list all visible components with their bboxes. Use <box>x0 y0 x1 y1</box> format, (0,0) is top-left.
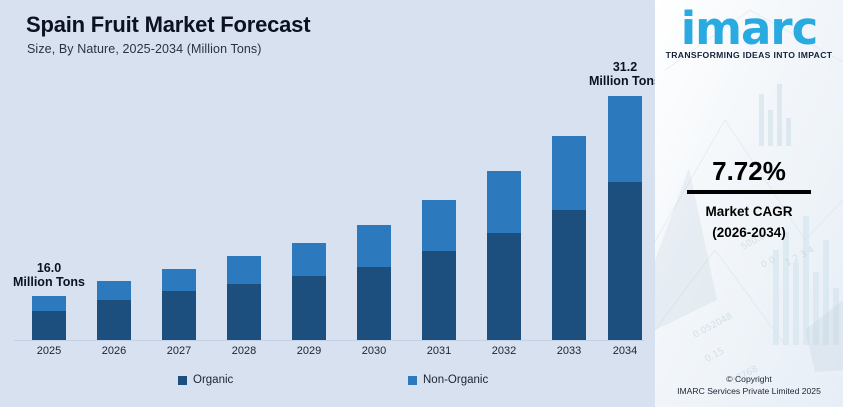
bar-group[interactable] <box>97 281 131 340</box>
copyright-line1: © Copyright <box>655 373 843 385</box>
copyright-line2: IMARC Services Private Limited 2025 <box>655 385 843 397</box>
bar-segment-non-organic <box>608 96 642 182</box>
x-axis-label: 2027 <box>149 345 209 357</box>
bar-group[interactable] <box>422 200 456 340</box>
bar-group[interactable] <box>292 243 326 340</box>
logo-wordmark: imarc <box>655 6 843 52</box>
bar-segment-organic <box>487 233 521 340</box>
chart-panel: Spain Fruit Market Forecast Size, By Nat… <box>0 0 655 407</box>
callout-unit: Million Tons <box>0 275 104 289</box>
bar-group[interactable] <box>552 136 586 340</box>
legend-swatch-icon <box>408 376 417 385</box>
legend-label: Organic <box>193 374 233 386</box>
legend-swatch-icon <box>178 376 187 385</box>
chart-infographic: Spain Fruit Market Forecast Size, By Nat… <box>0 0 843 407</box>
bar-segment-non-organic <box>227 256 261 284</box>
bar-segment-organic <box>552 210 586 340</box>
x-axis-label: 2032 <box>474 345 534 357</box>
value-callout-first: 16.0Million Tons <box>0 261 104 289</box>
bar-group[interactable] <box>608 96 642 340</box>
bar-segment-organic <box>292 276 326 340</box>
callout-value: 16.0 <box>0 261 104 275</box>
bar-segment-non-organic <box>422 200 456 251</box>
bar-group[interactable] <box>162 269 196 340</box>
x-axis-label: 2033 <box>539 345 599 357</box>
bar-segment-organic <box>608 182 642 340</box>
bar-segment-organic <box>97 300 131 340</box>
logo-tagline: TRANSFORMING IDEAS INTO IMPACT <box>655 50 843 60</box>
bar-segment-non-organic <box>162 269 196 291</box>
bar-segment-non-organic <box>487 171 521 233</box>
bar-segment-non-organic <box>552 136 586 210</box>
x-axis-label: 2030 <box>344 345 404 357</box>
bar-segment-non-organic <box>32 296 66 311</box>
bar-group[interactable] <box>227 256 261 340</box>
bar-segment-organic <box>227 284 261 340</box>
bar-segment-organic <box>162 291 196 340</box>
copyright-notice: © Copyright IMARC Services Private Limit… <box>655 373 843 397</box>
legend-item-non-organic[interactable]: Non-Organic <box>408 374 488 386</box>
x-axis-label: 2034 <box>595 345 655 357</box>
x-axis-line <box>14 340 644 341</box>
legend-item-organic[interactable]: Organic <box>178 374 233 386</box>
bar-segment-non-organic <box>292 243 326 276</box>
bar-segment-organic <box>32 311 66 340</box>
legend-label: Non-Organic <box>423 374 488 386</box>
cagr-value: 7.72% <box>655 156 843 187</box>
bar-group[interactable] <box>487 171 521 340</box>
bar-segment-non-organic <box>357 225 391 267</box>
brand-panel: 500.0 0.0 1 2 3 4 0.052048 0.15 37768 im… <box>655 0 843 407</box>
x-axis-label: 2025 <box>19 345 79 357</box>
x-axis-label: 2028 <box>214 345 274 357</box>
cagr-label-line2: (2026-2034) <box>655 222 843 243</box>
x-axis-label: 2026 <box>84 345 144 357</box>
bar-chart-plot: 2025202620272028202920302031203220332034… <box>0 0 655 360</box>
imarc-logo: imarc TRANSFORMING IDEAS INTO IMPACT <box>655 6 843 60</box>
x-axis-label: 2029 <box>279 345 339 357</box>
bar-segment-organic <box>422 251 456 340</box>
bar-segment-organic <box>357 267 391 340</box>
cagr-label: Market CAGR (2026-2034) <box>655 201 843 243</box>
bar-group[interactable] <box>32 296 66 340</box>
bar-group[interactable] <box>357 225 391 340</box>
x-axis-label: 2031 <box>409 345 469 357</box>
chart-legend: OrganicNon-Organic <box>0 372 655 394</box>
cagr-divider <box>687 190 811 194</box>
cagr-label-line1: Market CAGR <box>655 201 843 222</box>
